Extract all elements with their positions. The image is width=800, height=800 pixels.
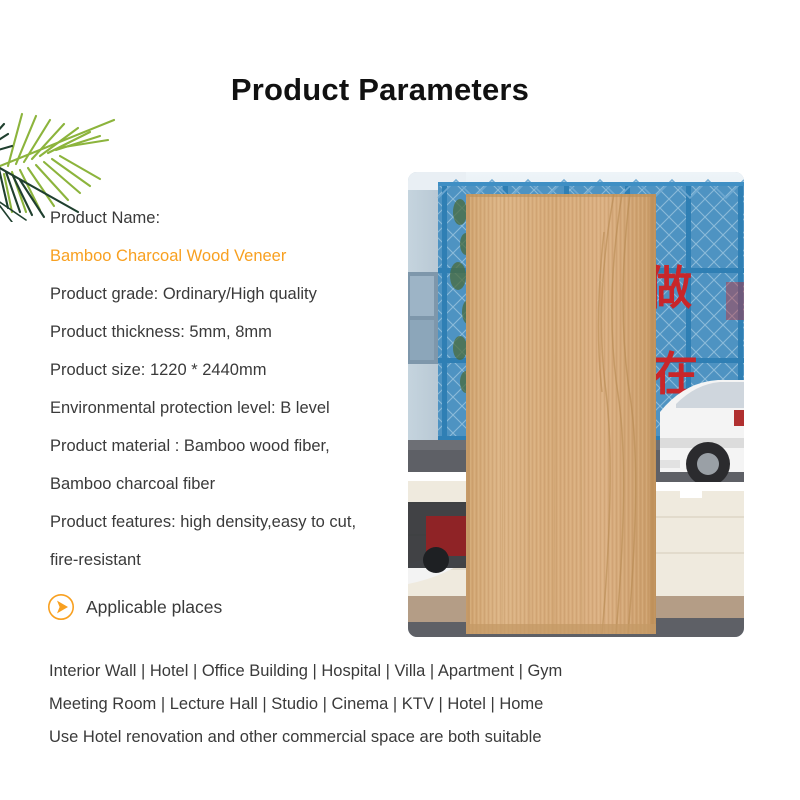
applicable-places-label: Applicable places <box>86 597 222 618</box>
spec-product-material-line2: Bamboo charcoal fiber <box>50 465 410 503</box>
spec-environmental-level: Environmental protection level: B level <box>50 389 410 427</box>
spec-product-name-label: Product Name: <box>50 199 410 237</box>
spec-product-material-line1: Product material : Bamboo wood fiber, <box>50 427 410 465</box>
applicable-places-heading: Applicable places <box>47 593 222 621</box>
page-title: Product Parameters <box>0 72 760 108</box>
spec-product-features-line1: Product features: high density,easy to c… <box>50 503 410 541</box>
spec-product-thickness: Product thickness: 5mm, 8mm <box>50 313 410 351</box>
spec-product-size: Product size: 1220 * 2440mm <box>50 351 410 389</box>
places-line-1: Interior Wall | Hotel | Office Building … <box>49 655 749 688</box>
specification-list: Product Name: Bamboo Charcoal Wood Venee… <box>50 199 410 579</box>
spec-product-name-value: Bamboo Charcoal Wood Veneer <box>50 237 410 275</box>
arrow-circle-right-icon <box>47 593 75 621</box>
product-parameters-page: Product Parameters Product Name: Bamboo … <box>0 0 800 800</box>
places-line-3: Use Hotel renovation and other commercia… <box>49 721 749 754</box>
spec-product-features-line2: fire-resistant <box>50 541 410 579</box>
spec-product-grade: Product grade: Ordinary/High quality <box>50 275 410 313</box>
applicable-places-list: Interior Wall | Hotel | Office Building … <box>49 655 749 754</box>
product-photo: 做 在 宀 <box>408 172 744 637</box>
places-line-2: Meeting Room | Lecture Hall | Studio | C… <box>49 688 749 721</box>
